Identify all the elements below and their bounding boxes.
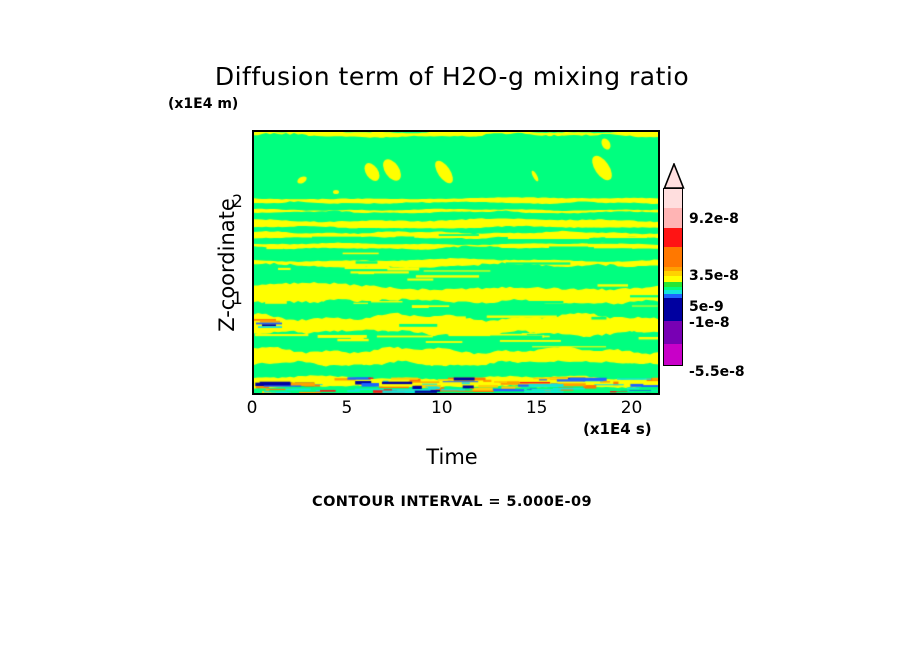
colorbar-tick-label: 3.5e-8 xyxy=(689,268,739,284)
x-axis-title: Time xyxy=(0,445,904,469)
colorbar-tick-label: 5e-9 xyxy=(689,299,724,315)
colorbar-labels: 9.2e-83.5e-85e-9-1e-8-5.5e-8 xyxy=(663,163,863,403)
colorbar-tick-label: -5.5e-8 xyxy=(689,364,745,380)
x-axis-units-label: (x1E4 s) xyxy=(583,420,652,438)
colorbar-tick-label: 9.2e-8 xyxy=(689,211,739,227)
figure-canvas: Diffusion term of H2O-g mixing ratio (x1… xyxy=(0,0,904,654)
x-tick-label: 20 xyxy=(621,398,643,418)
x-tick-label: 0 xyxy=(247,398,258,418)
x-tick-label: 5 xyxy=(341,398,352,418)
x-tick-label: 10 xyxy=(431,398,453,418)
y-axis-title-container: Z-coordinate xyxy=(215,175,239,355)
y-axis-title: Z-coordinate xyxy=(215,198,239,332)
x-tick-label: 15 xyxy=(526,398,548,418)
contour-field xyxy=(254,132,658,393)
page-title: Diffusion term of H2O-g mixing ratio xyxy=(0,62,904,91)
y-axis-units-label: (x1E4 m) xyxy=(168,96,238,112)
contour-plot-area xyxy=(252,130,660,395)
contour-interval-caption: CONTOUR INTERVAL = 5.000E-09 xyxy=(0,494,904,510)
colorbar-tick-label: -1e-8 xyxy=(689,315,730,331)
